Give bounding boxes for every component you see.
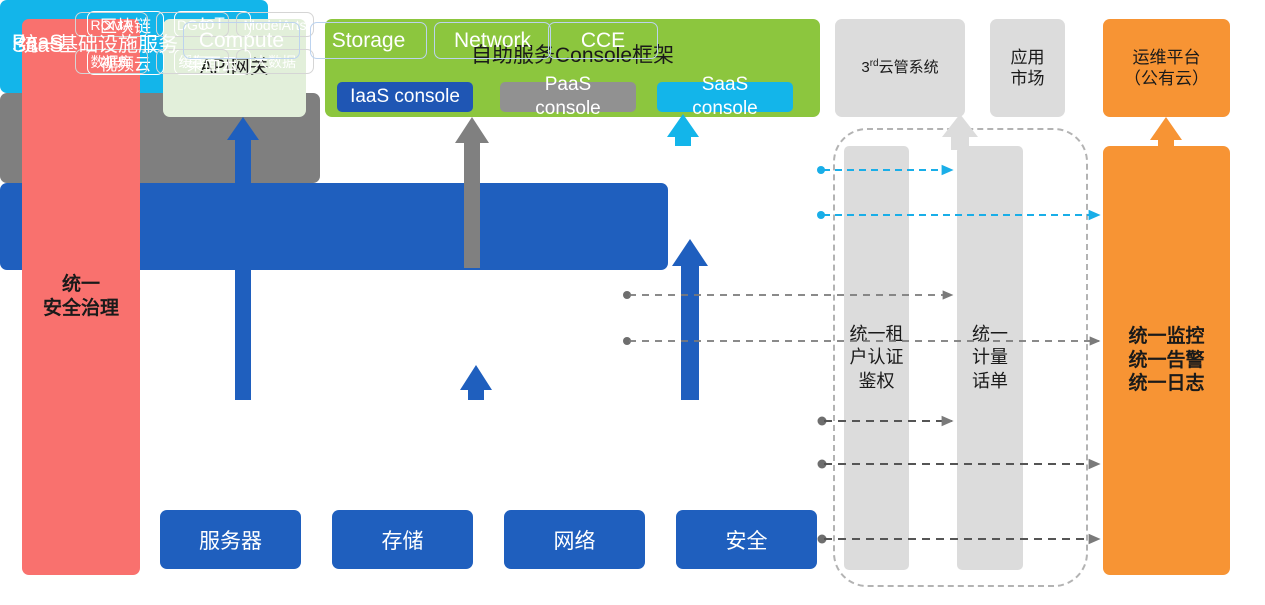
hardware-box-server: 服务器: [160, 510, 301, 569]
hardware-box-security: 安全: [676, 510, 817, 569]
third-party-cloud-mgmt-box: 3rd云管系统: [835, 19, 965, 117]
infra-chip-cce[interactable]: CCE: [548, 22, 658, 59]
hardware-box-network: 网络: [504, 510, 645, 569]
infra-chip-network[interactable]: Network: [434, 22, 551, 59]
third-party-label: 3rd云管系统: [861, 58, 938, 78]
architecture-diagram-canvas: 统一 安全治理 API网关 自助服务Console框架 IaaS console…: [0, 0, 1265, 605]
infra-chip-storage[interactable]: Storage: [310, 22, 427, 59]
app-market-box: 应用 市场: [990, 19, 1065, 117]
arrow-infra-to-saas: [672, 239, 708, 400]
ops-platform-box: 运维平台 （公有云）: [1103, 19, 1230, 117]
arrow-infra-to-paas: [460, 365, 492, 400]
unified-infrastructure-label: 统一基础设施服务: [18, 28, 178, 57]
iaas-console-chip[interactable]: IaaS console: [337, 82, 473, 112]
ops-monitor-panel: 统一监控 统一告警 统一日志: [1103, 146, 1230, 575]
infra-chip-compute[interactable]: Compute: [183, 22, 300, 59]
lane-unified-tenant-auth: 统一租 户认证 鉴权: [844, 146, 909, 570]
security-governance-panel: 统一 安全治理: [22, 19, 140, 575]
hardware-box-storage: 存储: [332, 510, 473, 569]
arrow-monitor-to-ops-platform: [1150, 117, 1182, 146]
lane-unified-metering: 统一 计量 话单: [957, 146, 1023, 570]
saas-console-chip[interactable]: SaaS console: [657, 82, 793, 112]
paas-console-chip[interactable]: PaaS console: [500, 82, 636, 112]
